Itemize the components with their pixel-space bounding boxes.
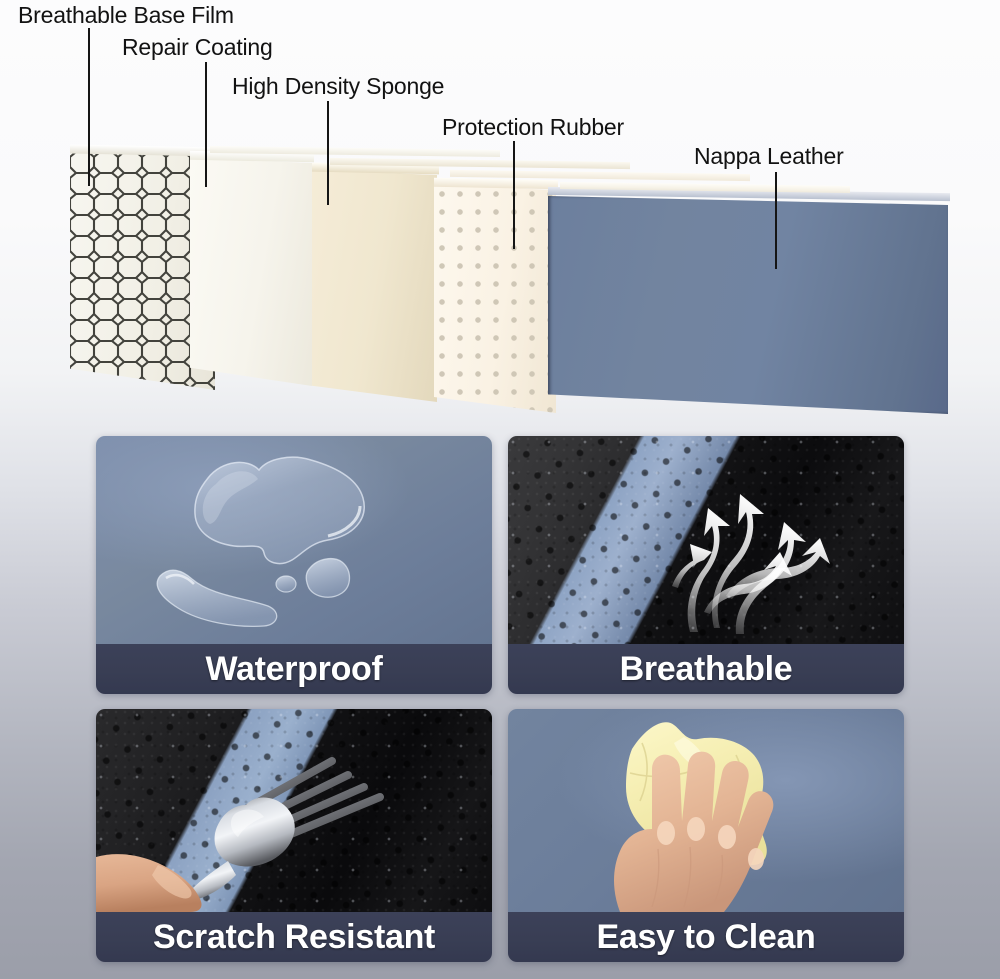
feature-card-breathable[interactable]: Breathable [508,436,904,694]
breathable-label-bar: Breathable [508,644,904,694]
scratch-resistant-photo [96,709,492,912]
water-droplets-icon [96,436,492,644]
hand-with-cloth-icon [508,709,904,912]
feature-cards-grid: Waterproof [0,0,1000,979]
airflow-arrows-icon [508,436,904,644]
feature-card-waterproof[interactable]: Waterproof [96,436,492,694]
waterproof-label-bar: Waterproof [96,644,492,694]
feature-card-easy-to-clean[interactable]: Easy to Clean [508,709,904,962]
breathable-photo [508,436,904,644]
feature-card-scratch-resistant[interactable]: Scratch Resistant [96,709,492,962]
waterproof-photo [96,436,492,644]
scratch-resistant-label-bar: Scratch Resistant [96,912,492,962]
fork-and-hand-icon [96,709,492,912]
feature-title: Easy to Clean [596,918,815,957]
feature-title: Scratch Resistant [153,918,435,957]
easy-to-clean-label-bar: Easy to Clean [508,912,904,962]
feature-title: Waterproof [205,650,382,689]
easy-to-clean-photo [508,709,904,912]
feature-title: Breathable [620,650,793,689]
